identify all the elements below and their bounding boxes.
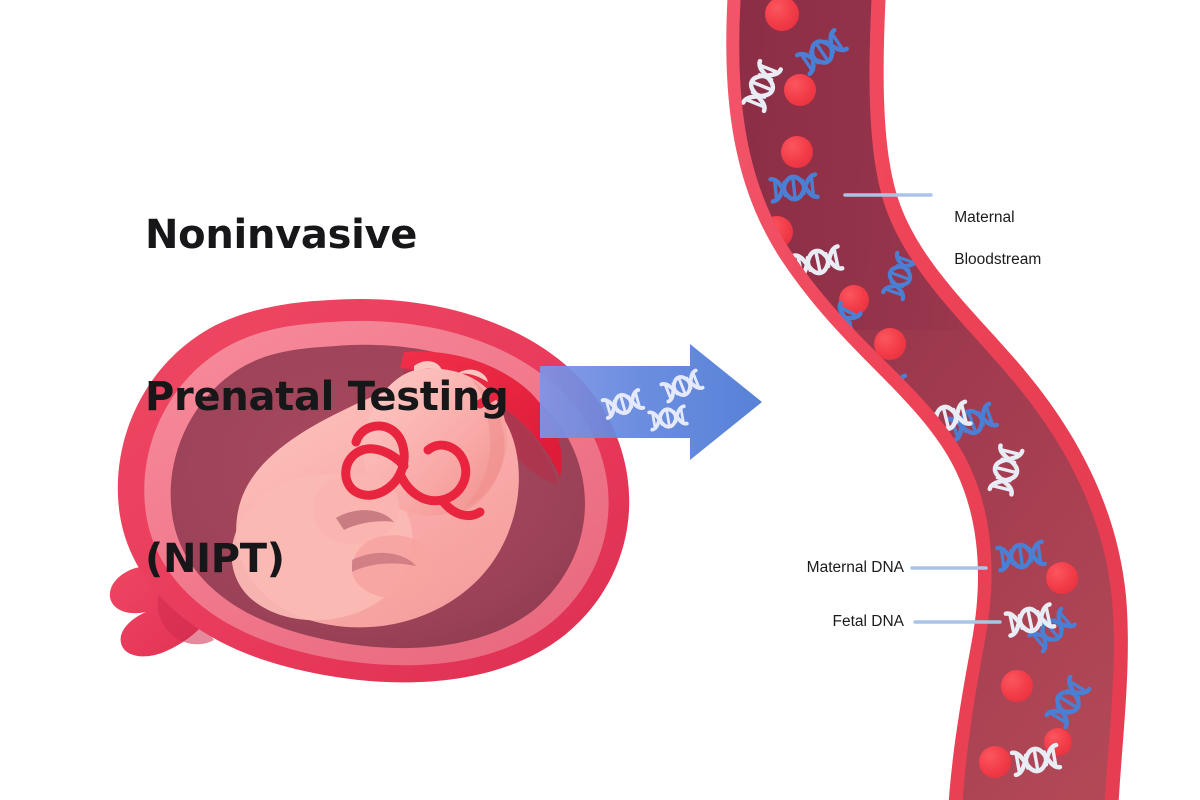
page-title-line-2: Prenatal Testing <box>145 370 508 424</box>
label-fetal-dna: Fetal DNA <box>654 611 904 632</box>
page-title-line-1: Noninvasive <box>145 208 508 262</box>
page-title-line-3: (NIPT) <box>145 532 508 586</box>
label-maternal-dna: Maternal DNA <box>654 557 904 578</box>
infographic-canvas: Noninvasive Prenatal Testing (NIPT) Mate… <box>0 0 1200 800</box>
red-blood-cell <box>979 746 1011 778</box>
page-title: Noninvasive Prenatal Testing (NIPT) <box>145 100 508 694</box>
red-blood-cell <box>1001 670 1033 702</box>
red-blood-cell <box>781 136 813 168</box>
label-maternal-bloodstream: Maternal Bloodstream <box>937 186 1041 291</box>
red-blood-cell <box>784 74 816 106</box>
red-blood-cell <box>1046 562 1078 594</box>
maternal-blood-vessel <box>700 0 1160 800</box>
label-maternal-bloodstream-line-1: Maternal <box>954 209 1014 226</box>
label-maternal-bloodstream-line-2: Bloodstream <box>954 251 1041 268</box>
